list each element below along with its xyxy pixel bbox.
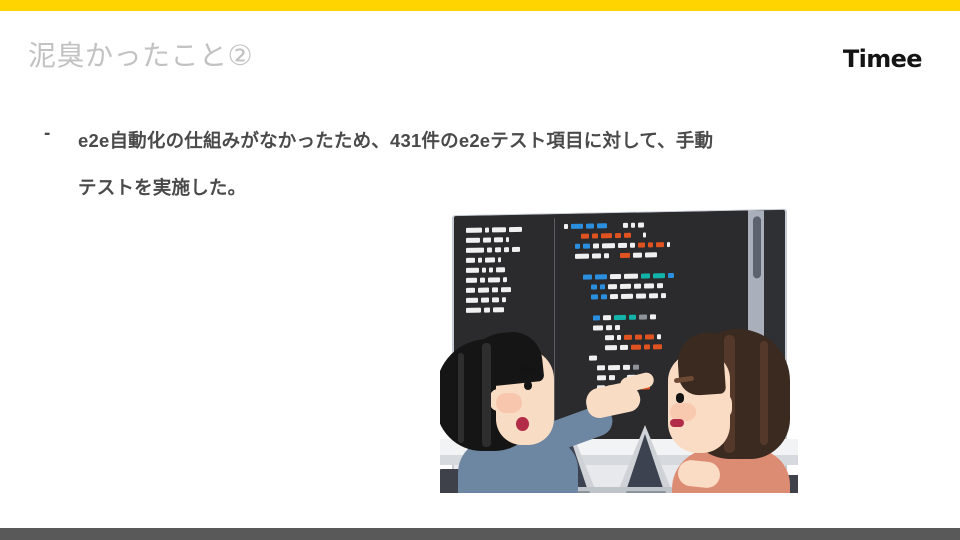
woman-hair-highlight-2 [760,341,768,445]
woman-eye [676,393,684,403]
man-hair-highlight-2 [458,353,464,443]
man-eye [524,381,532,390]
bottom-accent-bar [0,528,960,540]
top-accent-bar [0,0,960,11]
man-mouth [516,417,529,431]
laptop-screen [626,434,664,491]
woman-mouth [670,419,684,427]
bullet-line-2: テストを実施した。 [78,164,924,211]
woman-ear [712,393,732,419]
bullet-line-1: e2e自動化の仕組みがなかったため、431件のe2eテスト項目に対して、手動 [78,117,924,164]
illustration-two-people-code-monitor [440,207,798,493]
laptop-trackpad [626,491,666,493]
brand-logo: Timee [843,44,922,74]
bullet-text: e2e自動化の仕組みがなかったため、431件のe2eテスト項目に対して、手動 テ… [78,117,924,211]
scrollbar-thumb[interactable] [753,216,761,278]
man-hair-highlight [482,343,491,447]
bullet-block: - e2e自動化の仕組みがなかったため、431件のe2eテスト項目に対して、手動… [44,117,924,211]
bullet-marker: - [44,117,78,150]
page-title: 泥臭かったこと② [28,36,253,76]
slide-canvas: 泥臭かったこと② Timee - e2e自動化の仕組みがなかったため、431件の… [0,0,960,540]
man-cheek [496,393,522,413]
file-tree-pane [466,226,550,318]
